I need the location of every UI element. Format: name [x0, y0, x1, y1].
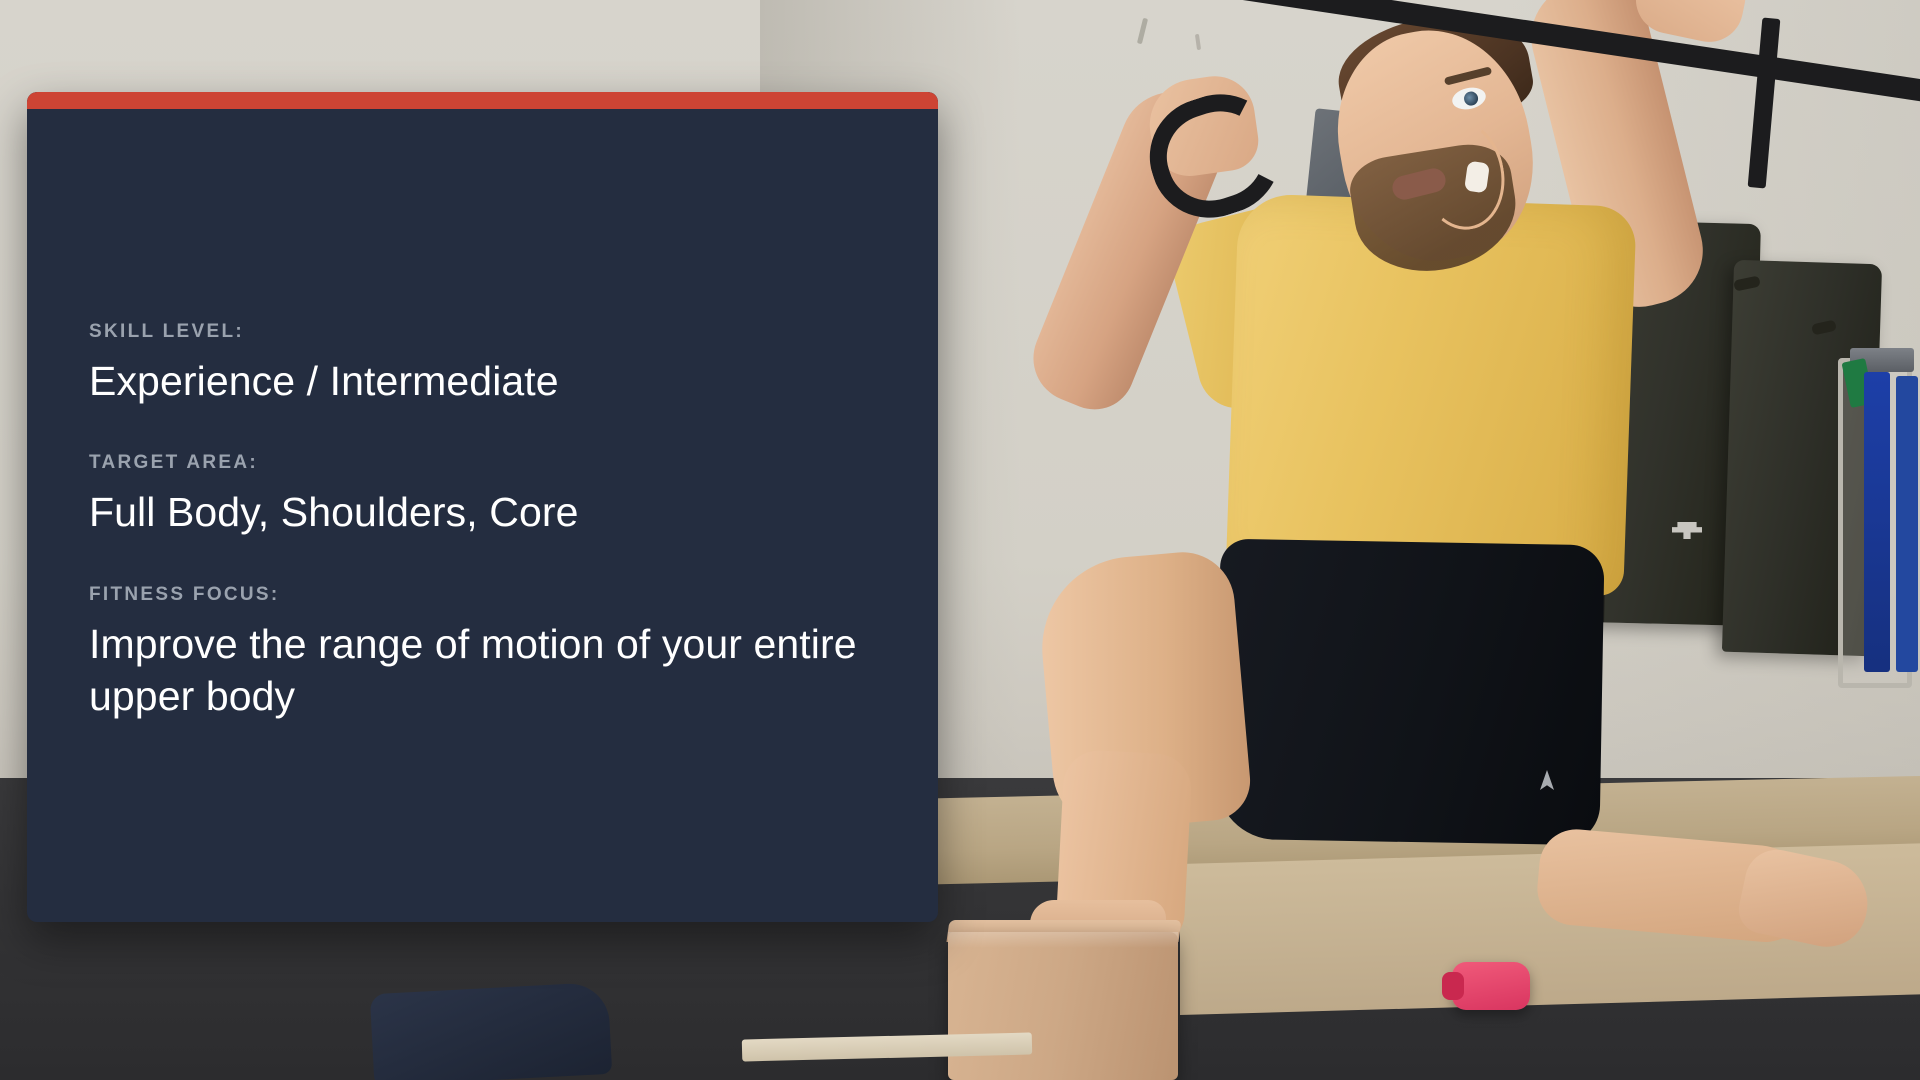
skill-level-value: Experience / Intermediate: [89, 355, 890, 407]
blue-resistance-strap: [1896, 376, 1918, 672]
cork-yoga-block: [948, 932, 1178, 1080]
gym-bag: [370, 982, 612, 1080]
field-fitness-focus: FITNESS FOCUS: Improve the range of moti…: [89, 585, 890, 723]
workout-info-card: SKILL LEVEL: Experience / Intermediate T…: [27, 92, 938, 922]
wall-scuff-mark: [1137, 18, 1148, 44]
fitness-focus-label: FITNESS FOCUS:: [89, 585, 890, 606]
info-card-body: SKILL LEVEL: Experience / Intermediate T…: [89, 322, 890, 723]
skill-level-label: SKILL LEVEL:: [89, 322, 890, 343]
target-area-value: Full Body, Shoulders, Core: [89, 486, 890, 538]
subject-shorts: [1215, 539, 1604, 846]
accent-bar: [27, 92, 938, 109]
screenshot-stage: SKILL LEVEL: Experience / Intermediate T…: [0, 0, 1920, 1080]
target-area-label: TARGET AREA:: [89, 453, 890, 474]
field-target-area: TARGET AREA: Full Body, Shoulders, Core: [89, 453, 890, 538]
field-skill-level: SKILL LEVEL: Experience / Intermediate: [89, 322, 890, 407]
blue-resistance-strap: [1864, 372, 1890, 672]
pink-dumbbell: [1452, 962, 1530, 1010]
fitness-focus-value: Improve the range of motion of your enti…: [89, 618, 879, 723]
wall-scuff-mark: [1195, 34, 1201, 50]
